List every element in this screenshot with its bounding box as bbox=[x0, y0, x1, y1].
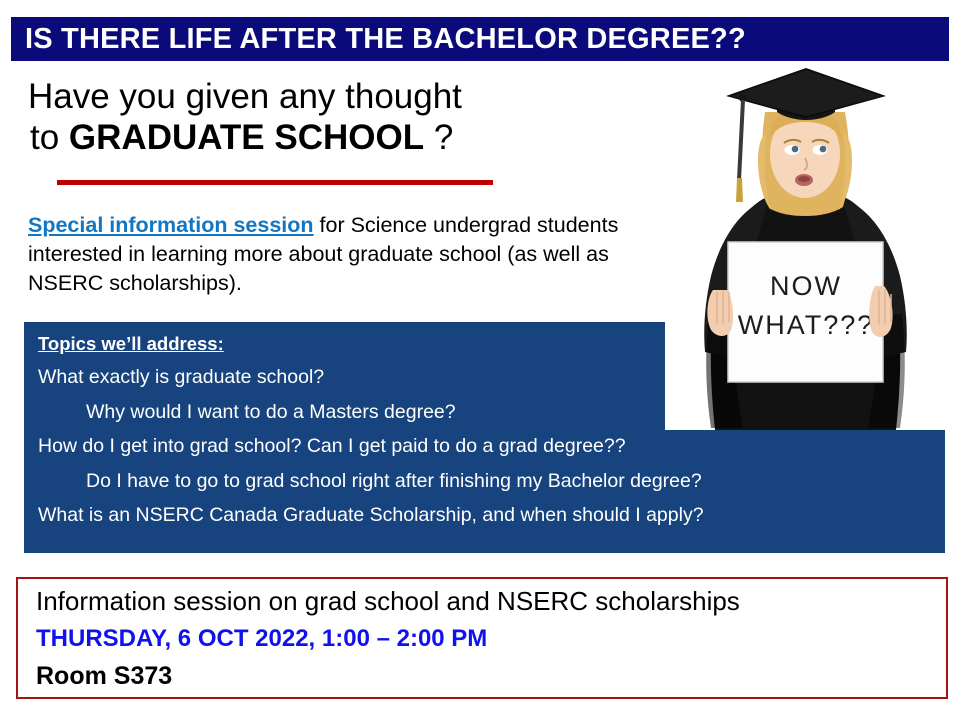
topics-heading: Topics we’ll address: bbox=[38, 333, 224, 355]
session-room: Room S373 bbox=[36, 664, 946, 689]
session-summary: Information session on grad school and N… bbox=[36, 588, 946, 614]
headline-line-2: to GRADUATE SCHOOL ? bbox=[28, 117, 668, 158]
graduate-illustration: NOW WHAT??? bbox=[665, 62, 946, 430]
special-session-link[interactable]: Special information session bbox=[28, 213, 314, 237]
svg-text:NOW: NOW bbox=[770, 271, 842, 301]
session-details-box: Information session on grad school and N… bbox=[16, 577, 948, 699]
headline-prefix: to bbox=[30, 118, 69, 157]
poster-canvas: IS THERE LIFE AFTER THE BACHELOR DEGREE?… bbox=[0, 0, 960, 720]
banner-title: IS THERE LIFE AFTER THE BACHELOR DEGREE?… bbox=[25, 25, 746, 54]
svg-text:WHAT???: WHAT??? bbox=[738, 310, 875, 340]
red-underline-rule bbox=[57, 180, 493, 185]
headline-line-1: Have you given any thought bbox=[28, 76, 668, 117]
headline-emphasis: GRADUATE SCHOOL bbox=[69, 118, 424, 157]
intro-paragraph: Special information session for Science … bbox=[28, 211, 663, 299]
headline-suffix: ? bbox=[424, 118, 453, 157]
topic-item: How do I get into grad school? Can I get… bbox=[38, 437, 945, 457]
topic-item: Do I have to go to grad school right aft… bbox=[38, 472, 945, 492]
session-datetime: THURSDAY, 6 OCT 2022, 1:00 – 2:00 PM bbox=[36, 627, 946, 651]
headline-block: Have you given any thought to GRADUATE S… bbox=[28, 76, 668, 159]
title-banner: IS THERE LIFE AFTER THE BACHELOR DEGREE?… bbox=[11, 17, 949, 61]
graduate-student-photo: NOW WHAT??? bbox=[665, 62, 946, 430]
topic-item: What is an NSERC Canada Graduate Scholar… bbox=[38, 506, 945, 526]
